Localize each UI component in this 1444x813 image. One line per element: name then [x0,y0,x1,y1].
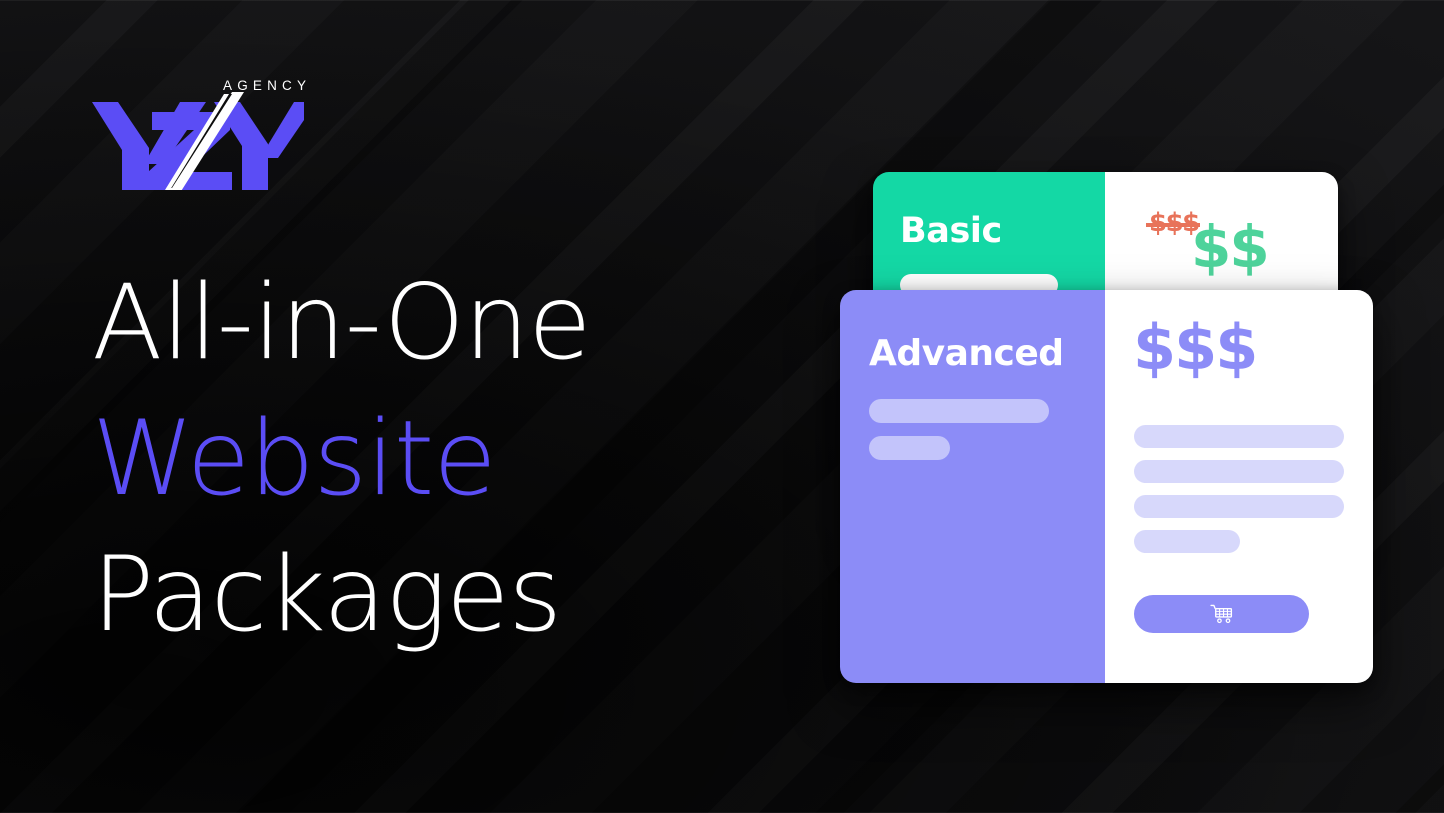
poster-canvas: AGENCY All-in-One Website Packages Basic… [0,0,1444,813]
advanced-feature-bar-1 [1134,425,1344,448]
advanced-feature-list [1134,425,1344,565]
shopping-cart-icon [1210,604,1234,624]
pricing-card-advanced[interactable]: Advanced $$$ [840,290,1373,683]
advanced-placeholder-bar-2 [869,436,950,460]
advanced-feature-bar-3 [1134,495,1344,518]
advanced-feature-bar-4 [1134,530,1240,553]
advanced-card-title: Advanced [869,332,1105,376]
basic-price-row: $$$ $$ [1105,196,1338,288]
advanced-feature-bar-2 [1134,460,1344,483]
advanced-buy-button[interactable] [1134,595,1309,633]
basic-card-title: Basic [900,210,1105,252]
advanced-card-left-panel: Advanced [840,290,1105,683]
advanced-placeholder-bar-1 [869,399,1049,423]
pricing-cards: Basic $$$ $$ Advanced $$$ [0,0,1444,813]
advanced-card-right-panel: $$$ [1105,290,1373,683]
basic-price-discounted: $$ [1191,218,1268,276]
advanced-price: $$$ [1133,317,1256,379]
